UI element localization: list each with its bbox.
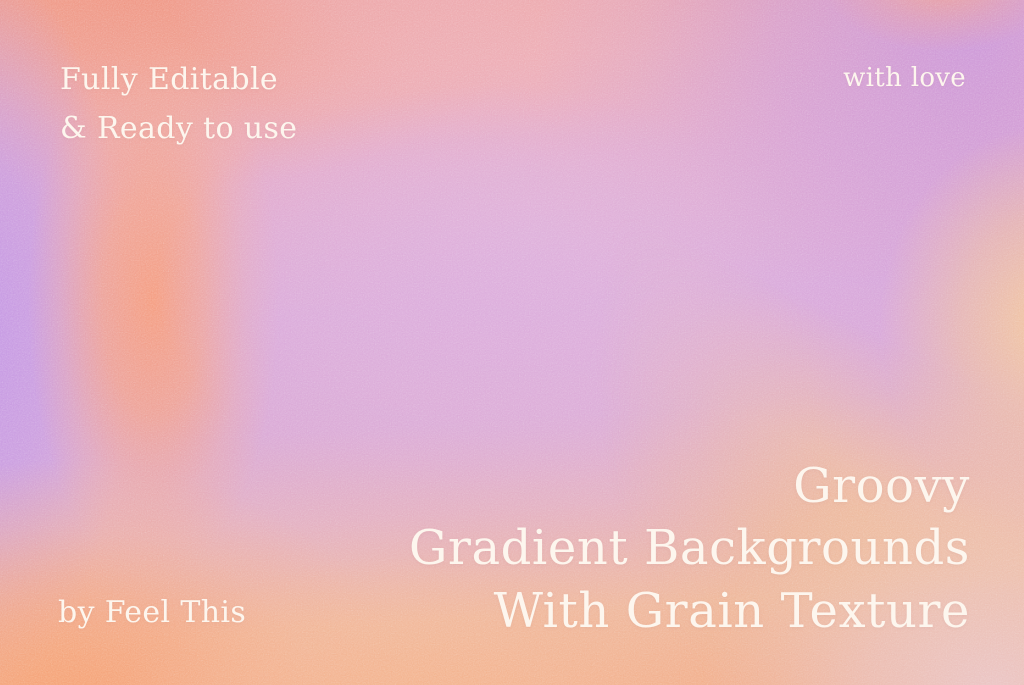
- credit-byline: by Feel This: [58, 592, 246, 635]
- headline-text: Groovy Gradient Backgrounds With Grain T…: [409, 455, 970, 642]
- headline-line-2: Gradient Backgrounds: [409, 517, 970, 579]
- with-love-text: with love: [843, 60, 966, 97]
- headline-line-3: With Grain Texture: [409, 580, 970, 642]
- tagline-line-1: Fully Editable: [60, 56, 297, 105]
- headline-line-1: Groovy: [409, 455, 970, 517]
- tagline-text: Fully Editable & Ready to use: [60, 56, 297, 153]
- tagline-line-2: & Ready to use: [60, 105, 297, 154]
- poster-canvas: Fully Editable & Ready to use with love …: [0, 0, 1024, 685]
